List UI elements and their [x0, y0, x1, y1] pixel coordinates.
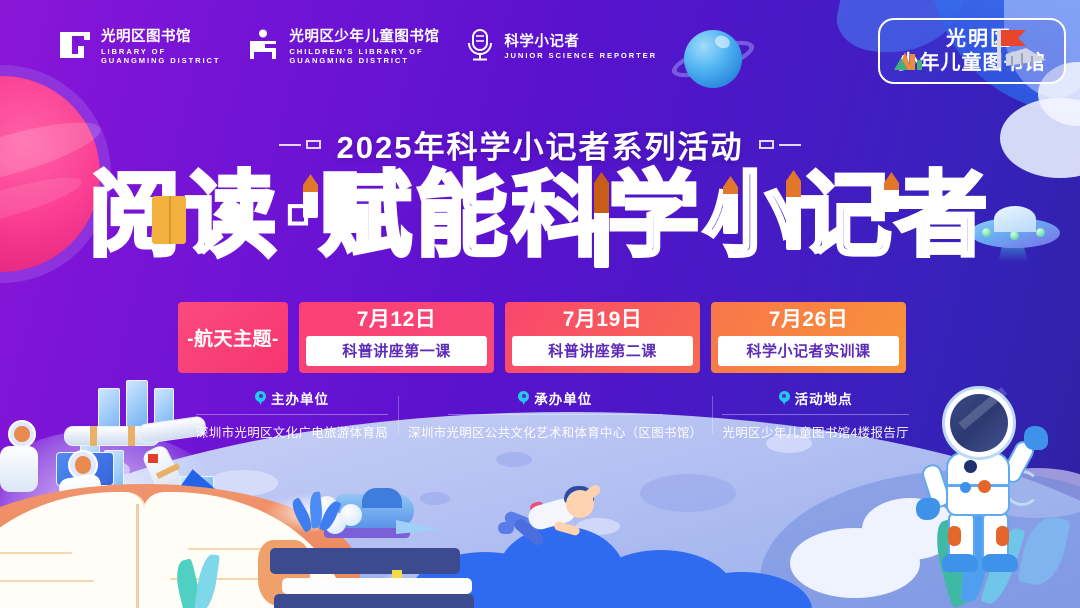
divider [448, 414, 663, 415]
theme-badge: -航天主题- [178, 302, 288, 373]
ornament-right-icon [759, 140, 801, 149]
session-date: 7月26日 [769, 308, 849, 331]
session-date: 7月12日 [357, 308, 437, 331]
pencil-icon [303, 174, 318, 218]
corner-library-badge: 光明区 少年儿童图书馆 [878, 18, 1066, 84]
session-name: 科普讲座第一课 [306, 336, 487, 366]
logo-label-en1: LIBRARY OF [101, 48, 220, 56]
flying-child-illustration [492, 486, 600, 556]
session-name: 科学小记者实训课 [718, 336, 899, 366]
childrens-library-icon [246, 29, 280, 66]
pencil-icon [723, 176, 738, 234]
info-value: 深圳市光明区文化广电旅游体育局 [196, 422, 388, 441]
session-name: 科普讲座第二课 [512, 336, 693, 366]
logo-junior-science-reporter: 科学小记者 JUNIOR SCIENCE REPORTER [465, 28, 657, 67]
info-column-co-organizer: 承办单位 深圳市光明区公共文化艺术和体育中心（区图书馆） [398, 388, 712, 441]
session-card-2[interactable]: 7月19日 科普讲座第二课 [505, 302, 700, 373]
pencil-icon [594, 172, 609, 268]
info-column-venue: 活动地点 光明区少年儿童图书馆4楼报告厅 [712, 388, 918, 441]
astronaut-helmet-icon [8, 420, 36, 448]
logo-label-cn: 光明区图书馆 [101, 30, 220, 45]
logo-label-cn: 光明区少年儿童图书馆 [289, 30, 439, 45]
location-pin-icon [518, 391, 529, 405]
pencil-icon [884, 172, 899, 212]
info-label: 承办单位 [534, 388, 592, 408]
session-cards-row: -航天主题- 7月12日 科普讲座第一课 7月19日 科普讲座第二课 7月26日… [178, 302, 906, 373]
logo-label-en2: GUANGMING DISTRICT [101, 57, 220, 65]
logo-childrens-library: 光明区少年儿童图书馆 CHILDREN'S LIBRARY OF GUANGMI… [246, 29, 439, 66]
stacked-books-illustration [270, 548, 480, 608]
location-pin-icon [779, 391, 790, 405]
logo-label-en2: GUANGMING DISTRICT [289, 57, 439, 65]
divider [196, 414, 388, 415]
header-logo-group: 光明区图书馆 LIBRARY OF GUANGMING DISTRICT 光明区… [58, 28, 657, 67]
info-column-organizer: 主办单位 深圳市光明区文化广电旅游体育局 [186, 388, 398, 441]
logo-label-en1: JUNIOR SCIENCE REPORTER [504, 52, 657, 60]
microphone-icon [465, 28, 495, 67]
blue-ringed-planet-icon [676, 22, 750, 96]
ornament-left-icon [279, 140, 321, 149]
open-book-accent-icon [152, 196, 186, 244]
info-value: 深圳市光明区公共文化艺术和体育中心（区图书馆） [408, 422, 702, 441]
divider [722, 414, 908, 415]
location-pin-icon [255, 391, 266, 405]
session-date: 7月19日 [563, 308, 643, 331]
info-label: 主办单位 [271, 388, 329, 408]
pencil-icon [786, 170, 801, 250]
logo-label-en1: CHILDREN'S LIBRARY OF [289, 48, 439, 56]
astronaut-illustration [916, 386, 1048, 582]
session-card-1[interactable]: 7月12日 科普讲座第一课 [299, 302, 494, 373]
info-value: 光明区少年儿童图书馆4楼报告厅 [722, 422, 908, 441]
organizer-info-row: 主办单位 深圳市光明区文化广电旅游体育局 承办单位 深圳市光明区公共文化艺术和体… [186, 388, 906, 441]
logo-label-cn: 科学小记者 [504, 35, 657, 50]
session-card-3[interactable]: 7月26日 科学小记者实训课 [711, 302, 906, 373]
building-icon [992, 26, 1056, 75]
poster-canvas: 光明区图书馆 LIBRARY OF GUANGMING DISTRICT 光明区… [0, 0, 1080, 608]
event-subtitle: 2025年科学小记者系列活动 [337, 122, 744, 167]
info-label: 活动地点 [795, 388, 853, 408]
mountain-icon [894, 40, 934, 75]
subtitle-row: 2025年科学小记者系列活动 [0, 122, 1080, 167]
logo-guangming-library: 光明区图书馆 LIBRARY OF GUANGMING DISTRICT [58, 30, 220, 65]
library-monogram-icon [58, 30, 92, 65]
